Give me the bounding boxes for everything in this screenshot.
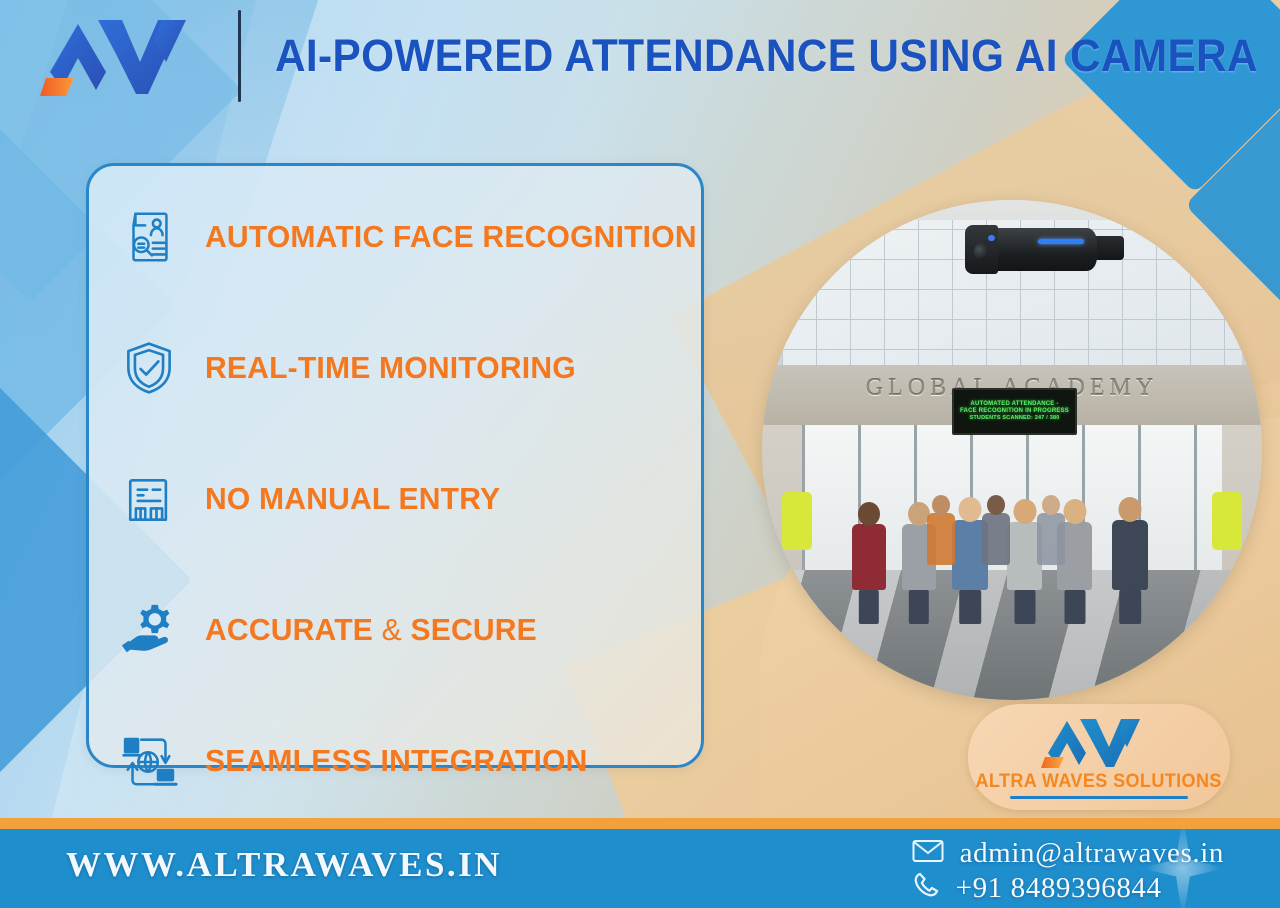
document-profile-search-icon [111,200,187,274]
contact-row-email[interactable]: admin@altrawaves.in [912,836,1224,870]
feature-label: ACCURATE & SECURE [205,612,537,648]
camera-led-strip [1038,239,1084,244]
feature-item-real-time-monitoring: REAL-TIME MONITORING [111,331,681,405]
led-display-board: AUTOMATED ATTENDANCE - FACE RECOGNITION … [952,388,1077,436]
shield-check-icon [111,331,187,405]
brand-underline [1010,796,1188,799]
feature-label: NO MANUAL ENTRY [205,481,500,517]
photo-student-head [1013,499,1036,524]
cctv-bullet-camera-icon [962,215,1127,285]
photo-student-legs [1064,590,1085,624]
feature-item-seamless-integration: SEAMLESS INTEGRATION [111,724,681,798]
feature-label-part-2: SECURE [410,612,536,647]
photo-staff-left [782,492,812,550]
photo-student-head [858,502,880,526]
feature-label: SEAMLESS INTEGRATION [205,743,588,779]
photo-student-head [987,495,1005,515]
email-address: admin@altrawaves.in [960,837,1224,870]
envelope-icon [912,839,944,868]
photo-staff-right [1212,492,1242,550]
feature-label: AUTOMATIC FACE RECOGNITION [205,219,697,255]
photo-student-legs [959,590,981,624]
footer-accent-stripe [0,818,1280,829]
photo-student [982,513,1010,565]
altra-waves-aw-logo-icon [40,10,210,102]
photo-student-head [1063,499,1086,524]
feature-label: REAL-TIME MONITORING [205,350,576,386]
photo-student-head [959,497,982,522]
photo-student [927,513,955,565]
header-divider [238,10,241,102]
phone-icon [912,871,942,906]
camera-indicator-dot [988,235,995,241]
brand-badge: ALTRA WAVES SOLUTIONS [968,704,1230,810]
school-entrance-photo: GLOBAL ACADEMY AUTOMATED ATTENDANCE - FA… [762,200,1262,700]
feature-item-face-recognition: AUTOMATIC FACE RECOGNITION [111,200,681,274]
feature-item-no-manual-entry: NO MANUAL ENTRY [111,462,681,536]
photo-student-legs [1119,590,1141,624]
poster-header: AI-POWERED ATTENDANCE USING AI CAMERA [0,0,1280,112]
website-url[interactable]: WWW.ALTRAWAVES.IN [66,845,502,885]
led-line-2: FACE RECOGNITION IN PROGRESS [960,408,1069,415]
poster-footer: WWW.ALTRAWAVES.IN admin@altrawaves.in + [0,829,1280,908]
photo-student-legs [859,590,879,624]
photo-student-head [1119,497,1142,522]
document-building-icon [111,462,187,536]
photo-student-legs [909,590,929,624]
photo-student [852,524,886,590]
features-card: AUTOMATIC FACE RECOGNITION REAL-TIME MON… [86,163,704,768]
altra-waves-aw-logo-icon [1040,715,1158,769]
photo-student-legs [1014,590,1035,624]
photo-student [1037,513,1065,565]
feature-label-separator: & [382,612,402,647]
hand-gear-icon [111,593,187,667]
photo-student [1112,520,1148,590]
poster-root: AI-POWERED ATTENDANCE USING AI CAMERA AU… [0,0,1280,908]
photo-student-head [932,495,950,515]
devices-globe-sync-icon [111,724,187,798]
photo-student-head [1042,495,1060,515]
contact-block: admin@altrawaves.in +91 8489396844 [912,836,1224,905]
feature-label-part-1: ACCURATE [205,612,373,647]
phone-number: +91 8489396844 [956,872,1162,905]
page-title: AI-POWERED ATTENDANCE USING AI CAMERA [275,30,1258,82]
led-line-3: STUDENTS SCANNED: 247 / 380 [969,415,1059,421]
brand-name: ALTRA WAVES SOLUTIONS [976,771,1222,793]
contact-row-phone[interactable]: +91 8489396844 [912,871,1224,905]
feature-item-accurate-secure: ACCURATE & SECURE [111,593,681,667]
